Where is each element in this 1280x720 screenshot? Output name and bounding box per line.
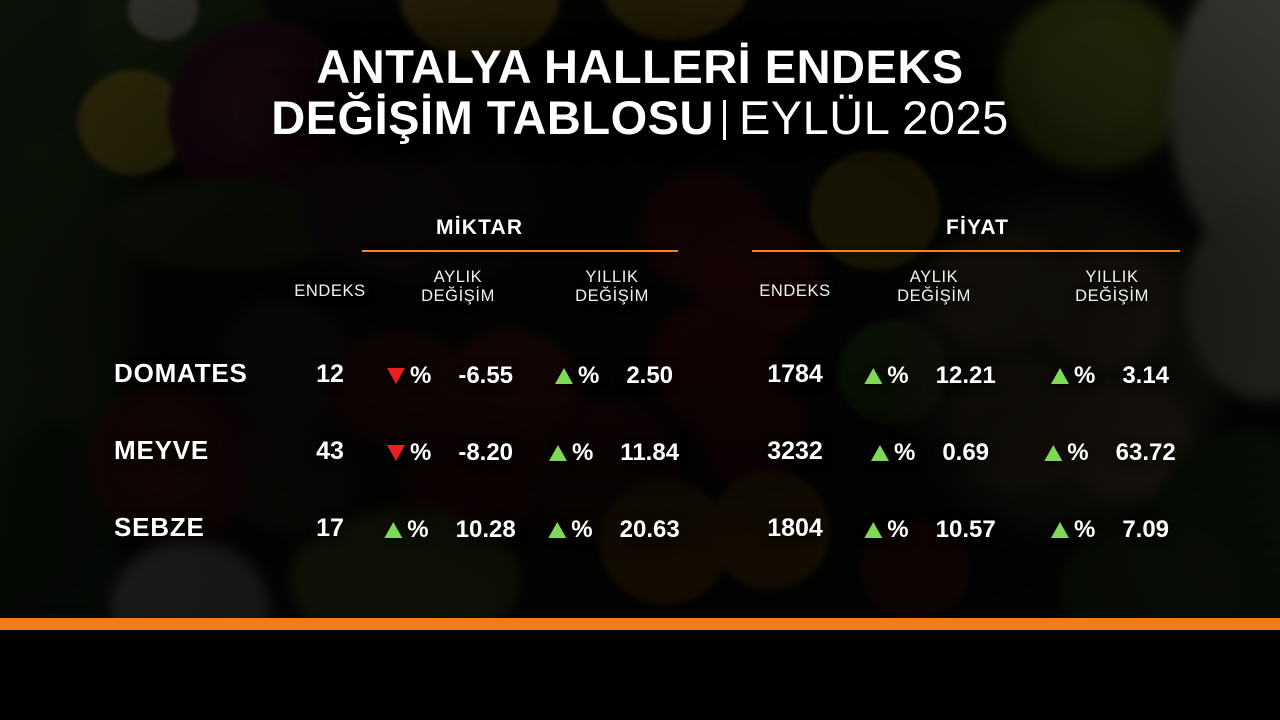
cell-sebze-fiyat-aylik: % 10.57 [864, 516, 995, 544]
title-line-2: DEĞİŞİM TABLOSUEYLÜL 2025 [0, 93, 1280, 144]
colhead-line-yillik: YILLIK [1050, 268, 1174, 287]
colhead-miktar-aylik: AYLIK DEĞİŞİM [396, 268, 520, 307]
cell-meyve-fiyat-endeks: 3232 [767, 437, 823, 466]
title-line-2-bold: DEĞİŞİM TABLOSU [271, 91, 714, 144]
arrow-up-icon [1051, 522, 1069, 538]
cell-sebze-miktar-endeks: 17 [316, 514, 344, 543]
colhead-line-degisim: DEĞİŞİM [1050, 287, 1174, 306]
colhead-line-degisim: DEĞİŞİM [396, 287, 520, 306]
value: 63.72 [1116, 439, 1176, 467]
value: -8.20 [458, 439, 513, 467]
cell-sebze-miktar-yillik: % 20.63 [548, 516, 679, 544]
arrow-up-icon [1051, 368, 1069, 384]
value: 3.14 [1122, 362, 1169, 390]
arrow-down-icon [387, 368, 405, 384]
row-label-sebze: SEBZE [114, 512, 205, 543]
percent-symbol: % [887, 362, 908, 390]
row-label-domates: DOMATES [114, 358, 248, 389]
colhead-fiyat-aylik: AYLIK DEĞİŞİM [872, 268, 996, 307]
colhead-line-degisim: DEĞİŞİM [550, 287, 674, 306]
percent-symbol: % [578, 362, 599, 390]
colhead-line-aylik: AYLIK [872, 268, 996, 287]
value: 12.21 [936, 362, 996, 390]
arrow-up-icon [864, 368, 882, 384]
colhead-line-aylik: AYLIK [396, 268, 520, 287]
percent-symbol: % [894, 439, 915, 467]
arrow-up-icon [384, 522, 402, 538]
cell-domates-fiyat-endeks: 1784 [767, 360, 823, 389]
arrow-up-icon [1044, 445, 1062, 461]
value: 0.69 [942, 439, 989, 467]
title-period-label: EYLÜL 2025 [739, 91, 1009, 144]
value: 10.57 [936, 516, 996, 544]
poster-canvas: ANTALYA HALLERİ ENDEKS DEĞİŞİM TABLOSUEY… [0, 0, 1280, 720]
cell-sebze-fiyat-yillik: % 7.09 [1051, 516, 1169, 544]
percent-symbol: % [887, 516, 908, 544]
cell-sebze-fiyat-endeks: 1804 [767, 514, 823, 543]
group-title-fiyat: FİYAT [946, 216, 1009, 240]
cell-domates-fiyat-aylik: % 12.21 [864, 362, 995, 390]
footer-bar: www.antalyaborsa.tr [0, 630, 1280, 720]
cell-domates-miktar-aylik: % -6.55 [387, 362, 513, 390]
cell-meyve-fiyat-aylik: % 0.69 [871, 439, 989, 467]
cell-domates-fiyat-yillik: % 3.14 [1051, 362, 1169, 390]
percent-symbol: % [572, 439, 593, 467]
cell-meyve-miktar-aylik: % -8.20 [387, 439, 513, 467]
percent-symbol: % [571, 516, 592, 544]
arrow-down-icon [387, 445, 405, 461]
group-rule-fiyat [752, 250, 1180, 252]
row-label-meyve: MEYVE [114, 435, 209, 466]
footer-orange-divider [0, 618, 1280, 630]
percent-symbol: % [410, 362, 431, 390]
value: -6.55 [458, 362, 513, 390]
cell-domates-miktar-endeks: 12 [316, 360, 344, 389]
value: 2.50 [626, 362, 673, 390]
colhead-fiyat-endeks: ENDEKS [733, 282, 857, 301]
percent-symbol: % [407, 516, 428, 544]
colhead-line-yillik: YILLIK [550, 268, 674, 287]
colhead-miktar-endeks: ENDEKS [268, 282, 392, 301]
cell-sebze-miktar-aylik: % 10.28 [384, 516, 515, 544]
value: 11.84 [620, 439, 679, 467]
colhead-line-degisim: DEĞİŞİM [872, 287, 996, 306]
percent-symbol: % [1074, 516, 1095, 544]
group-rule-miktar [362, 250, 678, 252]
value: 7.09 [1122, 516, 1169, 544]
arrow-up-icon [549, 445, 567, 461]
percent-symbol: % [410, 439, 431, 467]
cell-meyve-fiyat-yillik: % 63.72 [1044, 439, 1175, 467]
percent-symbol: % [1067, 439, 1088, 467]
arrow-up-icon [864, 522, 882, 538]
arrow-up-icon [871, 445, 889, 461]
title-line-1: ANTALYA HALLERİ ENDEKS [0, 42, 1280, 93]
cell-meyve-miktar-endeks: 43 [316, 437, 344, 466]
poster-title: ANTALYA HALLERİ ENDEKS DEĞİŞİM TABLOSUEY… [0, 42, 1280, 144]
cell-meyve-miktar-yillik: % 11.84 [549, 439, 679, 467]
arrow-up-icon [555, 368, 573, 384]
colhead-miktar-yillik: YILLIK DEĞİŞİM [550, 268, 674, 307]
title-divider [723, 100, 726, 140]
cell-domates-miktar-yillik: % 2.50 [555, 362, 673, 390]
arrow-up-icon [548, 522, 566, 538]
value: 20.63 [620, 516, 680, 544]
index-change-table: MİKTAR FİYAT ENDEKS AYLIK DEĞİŞİM YILLIK… [0, 196, 1280, 596]
value: 10.28 [456, 516, 516, 544]
colhead-fiyat-yillik: YILLIK DEĞİŞİM [1050, 268, 1174, 307]
percent-symbol: % [1074, 362, 1095, 390]
group-title-miktar: MİKTAR [436, 216, 523, 240]
